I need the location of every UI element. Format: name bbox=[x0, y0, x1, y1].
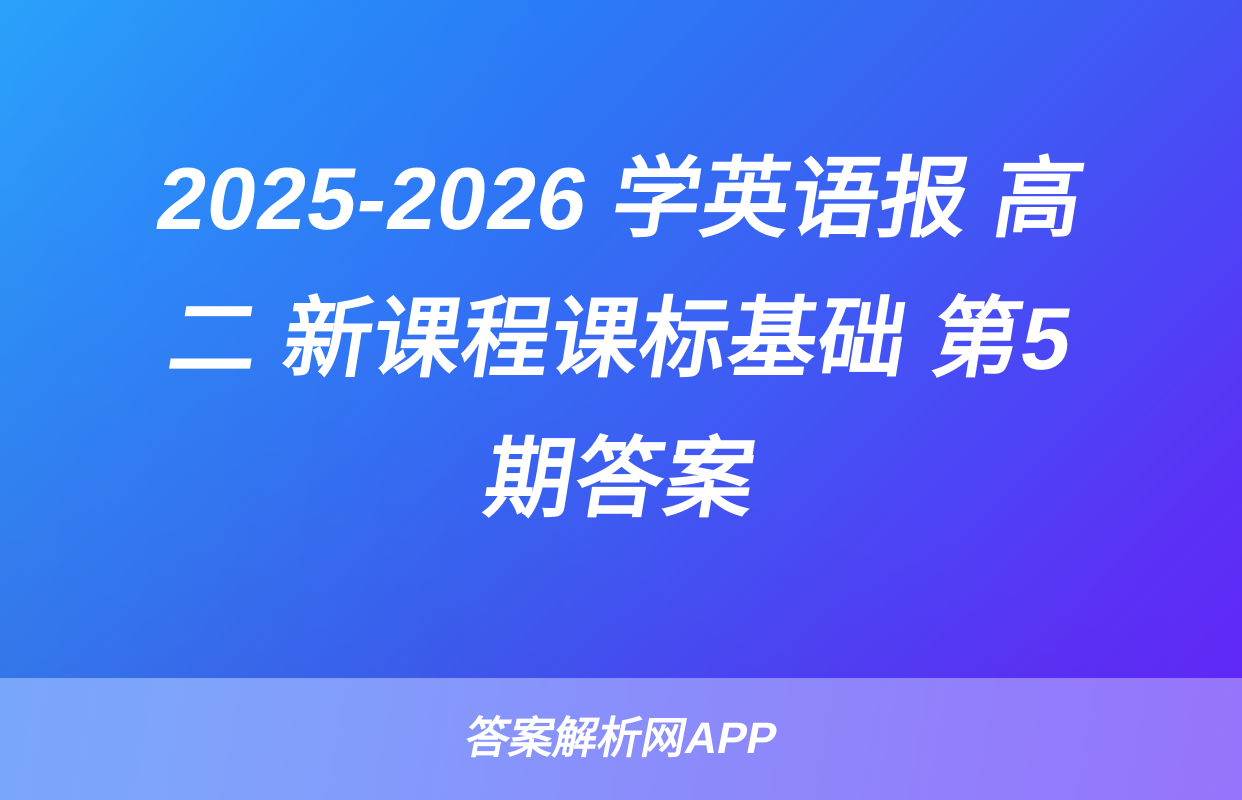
title-line-2: 二 新课程课标基础 第5 bbox=[58, 269, 1184, 409]
poster-title: 2025-2026 学英语报 高 二 新课程课标基础 第5 期答案 bbox=[61, 129, 1181, 549]
title-line-3: 期答案 bbox=[58, 409, 1184, 549]
app-brand-label: 答案解析网APP bbox=[461, 717, 780, 761]
title-line-1: 2025-2026 学英语报 高 bbox=[58, 129, 1184, 269]
footer-brand-band: 答案解析网APP bbox=[0, 678, 1242, 800]
answer-poster: 2025-2026 学英语报 高 二 新课程课标基础 第5 期答案 答案解析网A… bbox=[0, 0, 1242, 800]
hero-gradient-banner: 2025-2026 学英语报 高 二 新课程课标基础 第5 期答案 bbox=[0, 0, 1242, 678]
